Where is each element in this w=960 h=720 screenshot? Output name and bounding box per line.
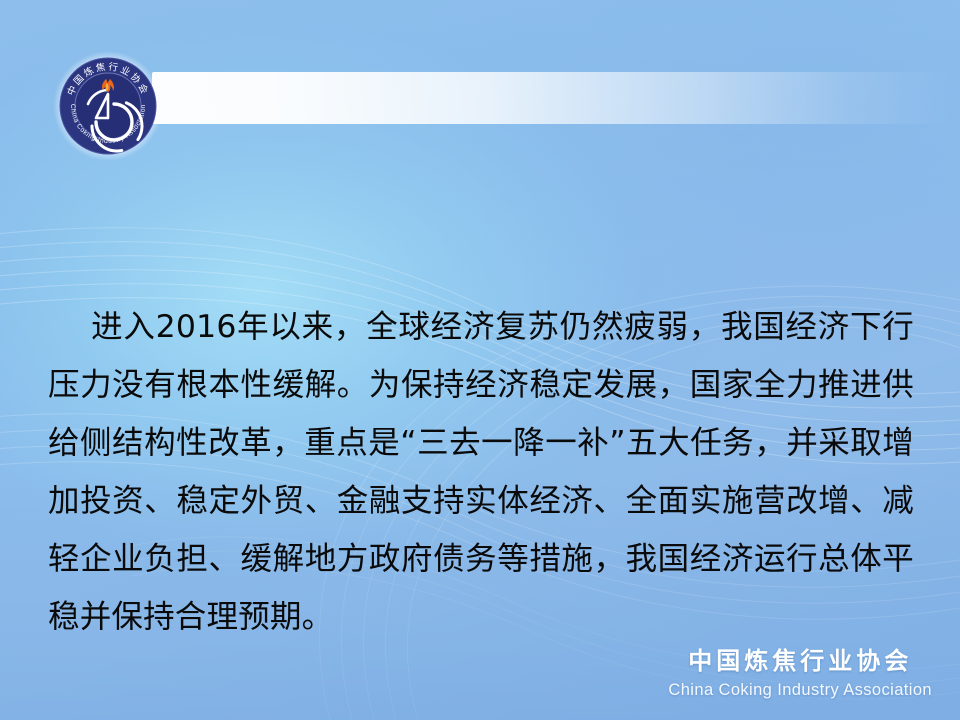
paragraph-1: 进入2016年以来，全球经济复苏仍然疲弱，我国经济下行压力没有根本性缓解。为保持…: [48, 298, 914, 646]
slide-body-text: 进入2016年以来，全球经济复苏仍然疲弱，我国经济下行压力没有根本性缓解。为保持…: [48, 182, 914, 720]
slide-canvas: 中国炼焦行业协会 China Coking Industry Associati…: [0, 0, 960, 720]
footer-name-en: China Coking Industry Association: [668, 682, 932, 699]
association-logo: 中国炼焦行业协会 China Coking Industry Associati…: [52, 50, 164, 162]
footer-name-cn: 中国炼焦行业协会: [668, 649, 932, 673]
header-gradient-bar: [152, 72, 952, 124]
footer-branding: 中国炼焦行业协会 China Coking Industry Associati…: [668, 649, 932, 699]
china-coking-industry-association-logo-icon: 中国炼焦行业协会 China Coking Industry Associati…: [52, 50, 164, 162]
